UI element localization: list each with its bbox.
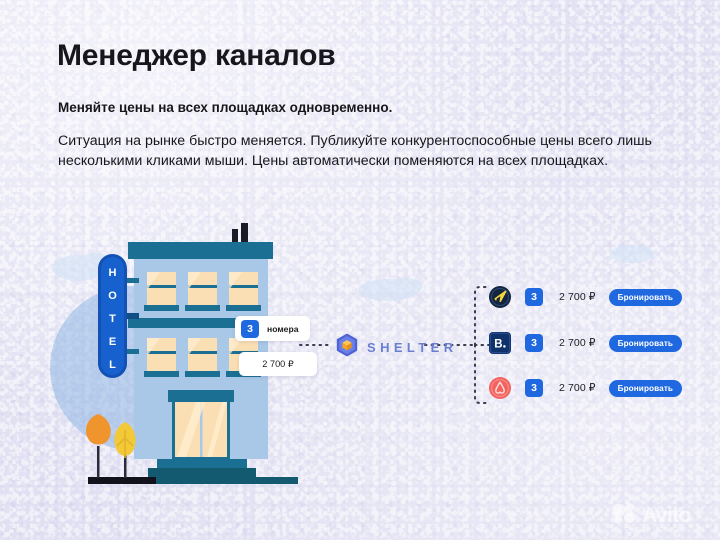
- channel-row: 3 2 700 ₽ Бронировать: [489, 286, 682, 308]
- expedia-plane-icon: [489, 286, 511, 308]
- rooms-count-badge: 3: [525, 334, 543, 352]
- rooms-count-badge: 3: [525, 379, 543, 397]
- channel-price: 2 700 ₽: [559, 337, 596, 349]
- body-paragraph: Ситуация на рынке быстро меняется. Публи…: [58, 131, 658, 172]
- rooms-card: 3 номера: [235, 316, 310, 341]
- svg-text:E: E: [109, 336, 116, 348]
- rooms-count-badge: 3: [241, 320, 259, 338]
- shelter-logo: SHELTER: [336, 333, 458, 362]
- avito-wordmark: Avito: [642, 504, 691, 528]
- page-title: Менеджер каналов: [57, 39, 335, 73]
- svg-text:T: T: [109, 313, 116, 325]
- airbnb-icon: [489, 377, 511, 399]
- booking-b-icon: B: [489, 332, 511, 354]
- shelter-wordmark: SHELTER: [367, 340, 458, 355]
- book-button[interactable]: Бронировать: [609, 289, 683, 306]
- book-button[interactable]: Бронировать: [609, 380, 683, 397]
- windows-upper: [144, 272, 261, 311]
- channel-price: 2 700 ₽: [559, 291, 596, 303]
- book-button[interactable]: Бронировать: [609, 335, 683, 352]
- channel-row: B 3 2 700 ₽ Бронировать: [489, 332, 682, 354]
- price-card: 2 700 ₽: [239, 352, 317, 376]
- avito-watermark: Avito: [612, 502, 691, 529]
- rooms-count-badge: 3: [525, 288, 543, 306]
- svg-text:O: O: [108, 290, 117, 302]
- channel-row: 3 2 700 ₽ Бронировать: [489, 377, 682, 399]
- svg-text:L: L: [109, 359, 116, 371]
- svg-text:H: H: [109, 267, 117, 279]
- rooms-card-label: номера: [267, 324, 299, 334]
- channel-price: 2 700 ₽: [559, 382, 596, 394]
- lead-text: Меняйте цены на всех площадках одновреме…: [58, 100, 392, 115]
- avito-dots-logo: [612, 502, 638, 529]
- shelter-hexagon-cube-logo: [336, 333, 358, 362]
- svg-text:B: B: [494, 339, 502, 351]
